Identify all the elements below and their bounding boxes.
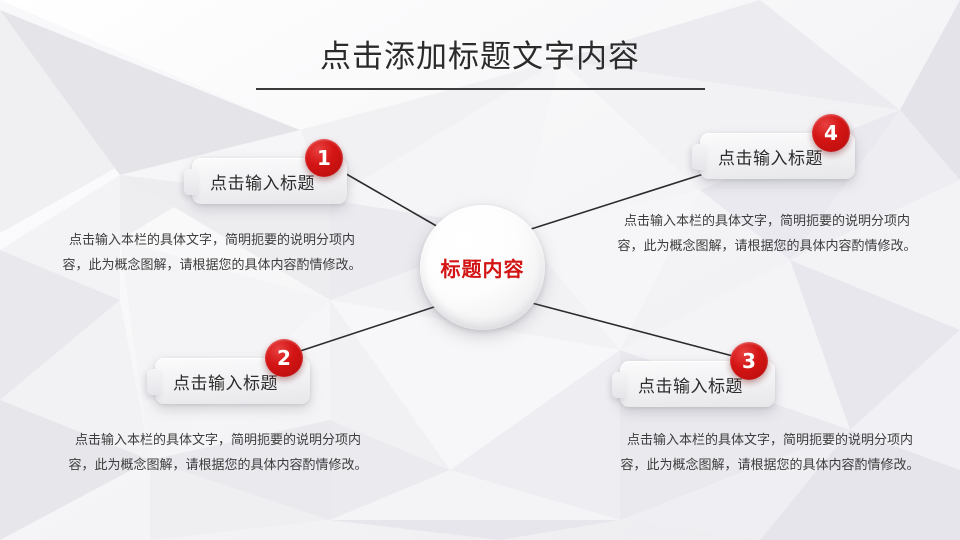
- body-text-1: 点击输入本栏的具体文字，简明扼要的说明分项内容，此为概念图解，请根据您的具体内容…: [62, 228, 362, 278]
- card-label-1: 点击输入标题: [192, 169, 315, 194]
- card-label-3: 点击输入标题: [620, 372, 743, 397]
- badge-number-4[interactable]: 4: [812, 114, 850, 152]
- page-title: 点击添加标题文字内容: [0, 34, 960, 80]
- badge-number-2-text: 2: [277, 346, 291, 370]
- page-title-text: 点击添加标题文字内容: [0, 34, 960, 80]
- card-label-4: 点击输入标题: [700, 144, 823, 169]
- body-text-4: 点击输入本栏的具体文字，简明扼要的说明分项内容，此为概念图解，请根据您的具体内容…: [617, 209, 917, 259]
- badge-number-2[interactable]: 2: [265, 339, 303, 377]
- center-circle-label: 标题内容: [441, 253, 525, 282]
- badge-number-4-text: 4: [824, 121, 838, 145]
- badge-number-3-text: 3: [742, 349, 756, 373]
- badge-number-1[interactable]: 1: [305, 139, 343, 177]
- card-label-2: 点击输入标题: [155, 369, 278, 394]
- body-text-3: 点击输入本栏的具体文字，简明扼要的说明分项内容，此为概念图解，请根据您的具体内容…: [620, 428, 920, 478]
- body-text-2: 点击输入本栏的具体文字，简明扼要的说明分项内容，此为概念图解，请根据您的具体内容…: [68, 428, 368, 478]
- badge-number-1-text: 1: [317, 146, 331, 170]
- slide-canvas: 点击添加标题文字内容 标题内容 点击输入标题 1 点击输入本栏的具体文字，简明扼…: [0, 0, 960, 540]
- connector-line-3: [528, 302, 748, 360]
- title-underline-rule: [256, 88, 705, 90]
- badge-number-3[interactable]: 3: [730, 342, 768, 380]
- center-circle-node[interactable]: 标题内容: [420, 205, 545, 330]
- connector-line-2: [282, 305, 440, 357]
